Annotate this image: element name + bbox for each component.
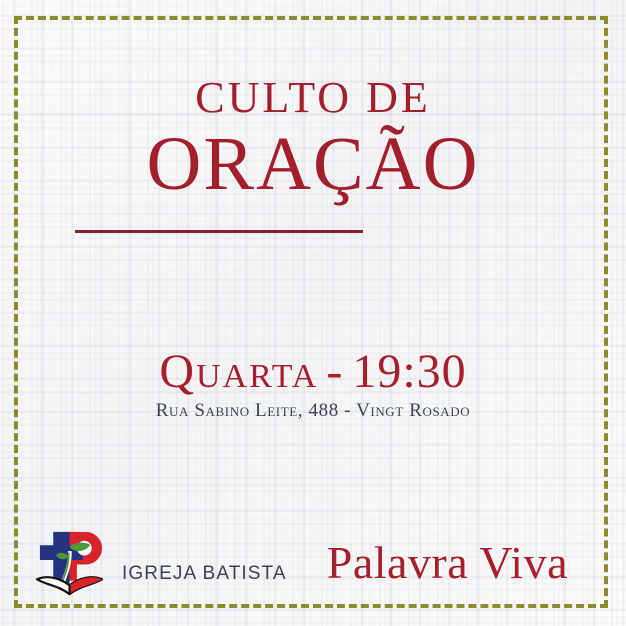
footer-logo-block: IGREJA BATISTA	[34, 524, 286, 602]
igreja-batista-palavra-viva-logo-icon	[34, 526, 108, 600]
schedule-time: 19:30	[352, 345, 466, 398]
page-title: ORAÇÃO	[0, 126, 626, 202]
address-line: Rua Sabino Leite, 488 - Vingt Rosado	[0, 400, 626, 422]
schedule-row: Quarta-19:30	[0, 348, 626, 396]
title-divider-rule	[75, 230, 363, 233]
poster-canvas: CULTO DE ORAÇÃO Quarta-19:30 Rua Sabino …	[0, 0, 626, 626]
schedule-separator: -	[318, 345, 352, 398]
brand-wordmark: Palavra Viva	[327, 540, 568, 586]
headline-kicker: CULTO DE	[0, 76, 626, 120]
schedule-day: Quarta	[159, 345, 318, 398]
church-name-label: IGREJA BATISTA	[122, 541, 287, 585]
